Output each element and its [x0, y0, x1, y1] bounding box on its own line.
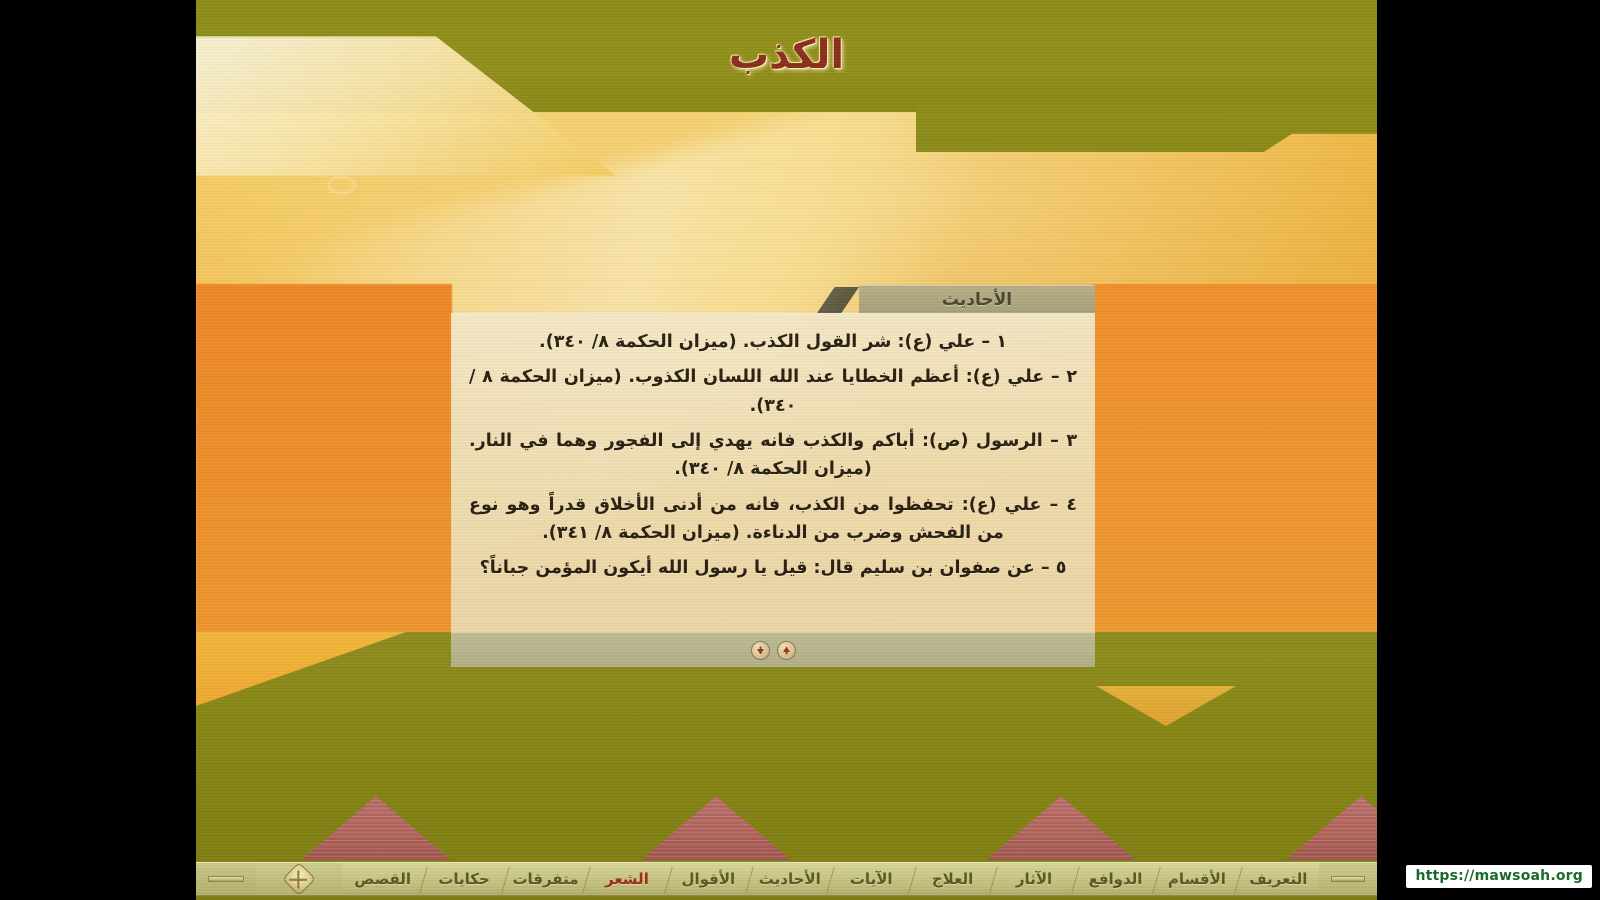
site-watermark: https://mawsoah.org	[1406, 865, 1592, 888]
nav-item-altareef[interactable]: التعريف	[1238, 863, 1319, 895]
hadith-item: ٢ – علي (ع): أعظم الخطايا عند الله اللسا…	[469, 363, 1077, 420]
panel-footer-scroll-controls	[451, 633, 1095, 667]
nav-left-cap-decoration	[1319, 863, 1377, 895]
panel-header: الأحاديث	[859, 285, 1095, 313]
background-orange-slab-right	[1092, 284, 1377, 632]
nav-item-alshier[interactable]: الشعر	[586, 863, 667, 895]
bottom-navigation-bar: التعريف الأقسام الدوافع الآثار العلاج ال…	[196, 862, 1377, 896]
nav-item-label: العلاج	[932, 870, 973, 888]
hadith-item: ٤ – علي (ع): تحفظوا من الكذب، فانه من أد…	[469, 491, 1077, 548]
nav-item-alayat[interactable]: الآيات	[830, 863, 911, 895]
background-orange-slab-left	[196, 284, 452, 632]
hadith-item: ٣ – الرسول (ص): أباكم والكذب فانه يهدي إ…	[469, 427, 1077, 484]
nav-item-alaqsam[interactable]: الأقسام	[1156, 863, 1237, 895]
nav-item-hikayat[interactable]: حكايات	[423, 863, 504, 895]
nav-item-label: التعريف	[1249, 870, 1307, 888]
nav-item-label: الشعر	[605, 870, 649, 888]
nav-item-alathar[interactable]: الآثار	[993, 863, 1074, 895]
video-stage: الكذب الأحاديث ١ – علي (ع): شر القول الك…	[196, 0, 1377, 900]
nav-items-container: التعريف الأقسام الدوافع الآثار العلاج ال…	[342, 863, 1319, 895]
nav-item-label: الأحاديث	[759, 870, 821, 888]
nav-home-button[interactable]	[256, 863, 342, 895]
nav-item-label: الأقسام	[1168, 870, 1226, 888]
nav-right-cap-decoration	[196, 863, 256, 895]
diamond-ornament-icon	[282, 862, 316, 896]
arrow-down-icon	[755, 645, 766, 656]
nav-item-label: الآثار	[1016, 870, 1052, 888]
nav-item-label: القصص	[354, 870, 411, 888]
nav-item-alahadith[interactable]: الأحاديث	[749, 863, 830, 895]
background-bubble	[328, 176, 356, 194]
scroll-down-button[interactable]	[751, 641, 770, 660]
nav-item-label: الآيات	[850, 870, 893, 888]
hadith-item: ٥ – عن صفوان بن سليم قال: قيل يا رسول ال…	[469, 554, 1077, 582]
nav-item-label: الأقوال	[681, 870, 735, 888]
panel-header-slant-decoration	[817, 287, 859, 313]
panel-body[interactable]: ١ – علي (ع): شر القول الكذب. (ميزان الحك…	[451, 313, 1095, 633]
scroll-up-button[interactable]	[777, 641, 796, 660]
arrow-up-icon	[781, 645, 792, 656]
nav-cap-bar-icon	[1331, 876, 1365, 882]
nav-item-alqasas[interactable]: القصص	[342, 863, 423, 895]
panel-header-label: الأحاديث	[942, 290, 1012, 310]
nav-item-label: متفرقات	[512, 870, 578, 888]
nav-cap-bar-icon	[208, 876, 244, 882]
content-panel: الأحاديث ١ – علي (ع): شر القول الكذب. (م…	[451, 285, 1095, 667]
nav-item-mutafariqat[interactable]: متفرقات	[505, 863, 586, 895]
screenshot-root: الكذب الأحاديث ١ – علي (ع): شر القول الك…	[0, 0, 1600, 900]
nav-item-aldawafi[interactable]: الدوافع	[1075, 863, 1156, 895]
nav-item-alilaj[interactable]: العلاج	[912, 863, 993, 895]
nav-item-label: الدوافع	[1088, 870, 1142, 888]
hadith-item: ١ – علي (ع): شر القول الكذب. (ميزان الحك…	[469, 328, 1077, 356]
page-title: الكذب	[196, 32, 1377, 78]
nav-item-label: حكايات	[438, 870, 490, 888]
nav-item-alaqwal[interactable]: الأقوال	[668, 863, 749, 895]
